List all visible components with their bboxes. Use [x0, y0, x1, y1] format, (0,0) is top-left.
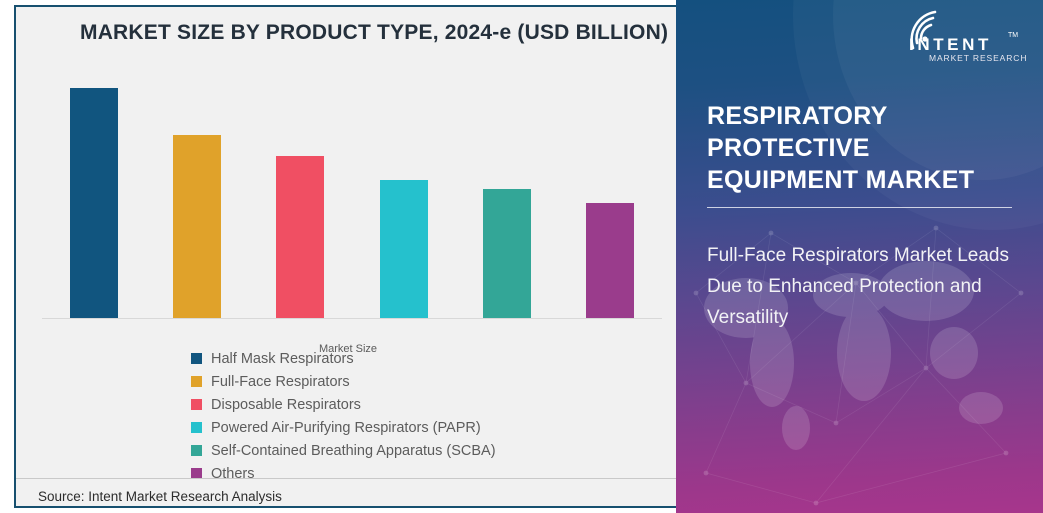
bar-5	[483, 189, 531, 318]
legend-swatch-icon	[191, 422, 202, 433]
panel-subtitle: Full-Face Respirators Market Leads Due t…	[707, 240, 1019, 333]
legend-swatch-icon	[191, 445, 202, 456]
network-overlay-graphic	[676, 173, 1043, 513]
panel-title: RESPIRATORY PROTECTIVE EQUIPMENT MARKET	[707, 100, 1019, 196]
source-divider	[16, 478, 678, 479]
legend-label: Half Mask Respirators	[211, 351, 354, 367]
x-axis-line	[42, 318, 662, 319]
bar-2	[173, 135, 221, 318]
logo-tm-mark: TM	[1008, 32, 1018, 39]
bar-4	[380, 180, 428, 318]
plot-area	[26, 77, 670, 337]
legend-label: Others	[211, 466, 255, 482]
logo-wordmark: INTENT	[909, 35, 992, 54]
legend-label: Self-Contained Breathing Apparatus (SCBA…	[211, 443, 496, 459]
infographic-canvas: MARKET SIZE BY PRODUCT TYPE, 2024-e (USD…	[0, 0, 1043, 513]
legend-label: Powered Air-Purifying Respirators (PAPR)	[211, 420, 481, 436]
chart-legend: Half Mask RespiratorsFull-Face Respirato…	[191, 347, 661, 485]
bar-1	[70, 88, 118, 318]
legend-item[interactable]: Self-Contained Breathing Apparatus (SCBA…	[191, 439, 661, 462]
chart-card: MARKET SIZE BY PRODUCT TYPE, 2024-e (USD…	[14, 5, 678, 508]
bar-series	[42, 77, 662, 318]
legend-item[interactable]: Others	[191, 462, 661, 485]
legend-swatch-icon	[191, 376, 202, 387]
bar-6	[586, 203, 634, 318]
legend-item[interactable]: Half Mask Respirators	[191, 347, 661, 370]
legend-swatch-icon	[191, 399, 202, 410]
bar-3	[276, 156, 324, 318]
legend-label: Disposable Respirators	[211, 397, 361, 413]
legend-label: Full-Face Respirators	[211, 374, 350, 390]
legend-swatch-icon	[191, 353, 202, 364]
logo-tagline: MARKET RESEARCH	[929, 53, 1027, 63]
source-note: Source: Intent Market Research Analysis	[38, 489, 282, 504]
branding-panel: INTENT TM MARKET RESEARCH RESPIRATORY PR…	[676, 0, 1043, 513]
legend-item[interactable]: Disposable Respirators	[191, 393, 661, 416]
legend-item[interactable]: Powered Air-Purifying Respirators (PAPR)	[191, 416, 661, 439]
page-title: MARKET SIZE BY PRODUCT TYPE, 2024-e (USD…	[80, 21, 668, 45]
brand-logo: INTENT TM MARKET RESEARCH	[887, 8, 1027, 64]
intent-signal-icon: INTENT TM MARKET RESEARCH	[887, 8, 1027, 64]
legend-item[interactable]: Full-Face Respirators	[191, 370, 661, 393]
panel-divider	[707, 207, 1012, 208]
